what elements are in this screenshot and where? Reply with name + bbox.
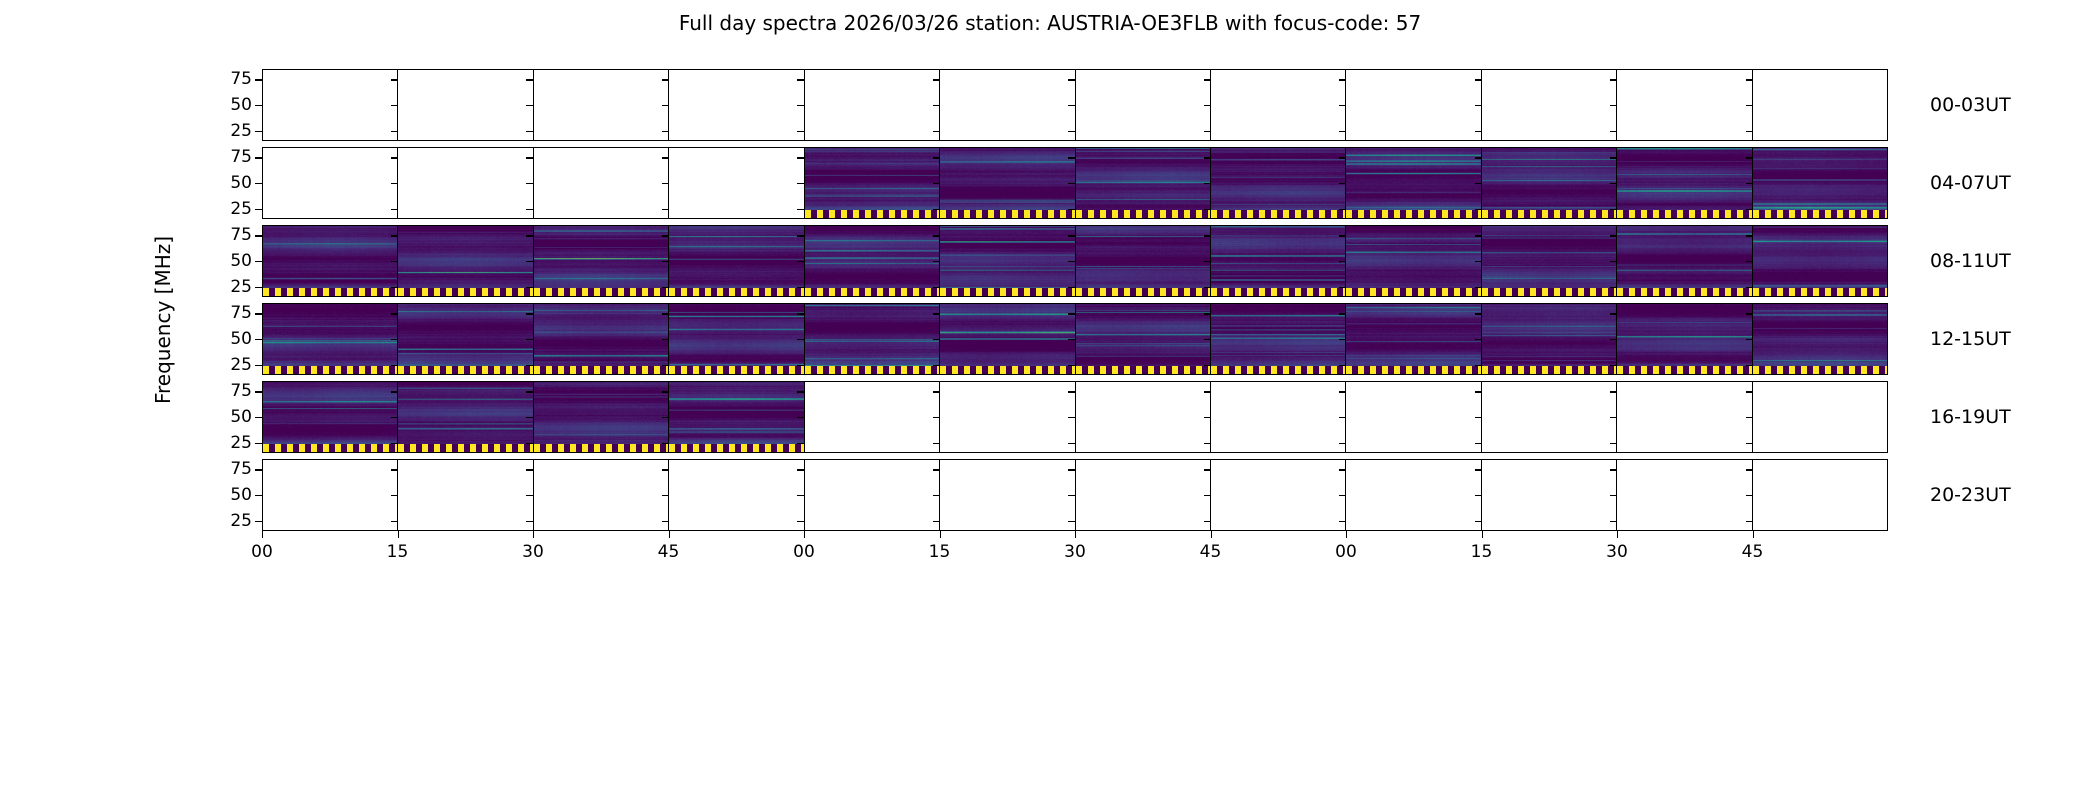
x-tick-mark	[804, 531, 805, 538]
spectrogram-image	[1482, 148, 1616, 218]
y-tick-mark	[526, 313, 533, 314]
y-tick-mark	[1339, 261, 1346, 262]
y-tick-mark	[1068, 521, 1075, 522]
x-tick-label: 45	[1191, 544, 1231, 561]
y-tick-mark	[1068, 235, 1075, 236]
spectrogram-image	[805, 148, 939, 218]
y-tick-mark	[526, 209, 533, 210]
y-tick-label: 25	[206, 201, 252, 218]
y-tick-mark	[1204, 183, 1211, 184]
y-tick-mark	[391, 235, 398, 236]
y-tick-mark	[1746, 443, 1753, 444]
x-tick-label: 45	[649, 544, 689, 561]
y-tick-mark	[1610, 417, 1617, 418]
y-tick-mark	[933, 157, 940, 158]
row-time-label: 04-07UT	[1930, 174, 2011, 193]
y-tick-mark	[255, 495, 262, 496]
y-tick-label: 25	[206, 123, 252, 140]
y-tick-mark	[933, 313, 940, 314]
y-tick-mark	[1475, 105, 1482, 106]
spectrogram-panel[interactable]	[1481, 460, 1616, 530]
calibration-dash-band	[1617, 288, 1751, 296]
spectrogram-panel[interactable]	[1075, 382, 1210, 452]
y-tick-mark	[391, 469, 398, 470]
spectrogram-row[interactable]	[262, 225, 1888, 297]
y-tick-mark	[662, 417, 669, 418]
spectrogram-image	[1211, 304, 1345, 374]
calibration-dash-band	[669, 366, 803, 374]
y-tick-label: 50	[206, 253, 252, 270]
y-tick-label: 75	[206, 227, 252, 244]
x-tick-label: 45	[1733, 544, 1773, 561]
spectrogram-panel[interactable]	[1210, 148, 1345, 218]
y-tick-mark	[1204, 79, 1211, 80]
spectrogram-image	[1211, 226, 1345, 296]
spectrogram-image	[1076, 148, 1210, 218]
spectrogram-panel[interactable]	[804, 460, 939, 530]
spectrogram-panel[interactable]	[1210, 382, 1345, 452]
row-time-label: 20-23UT	[1930, 486, 2011, 505]
calibration-dash-band	[1617, 366, 1751, 374]
spectrogram-image	[1482, 226, 1616, 296]
y-tick-mark	[526, 235, 533, 236]
spectrogram-panel[interactable]	[1752, 148, 1887, 218]
y-tick-mark	[255, 417, 262, 418]
y-tick-mark	[391, 521, 398, 522]
y-tick-mark	[1475, 365, 1482, 366]
x-tick-mark	[1346, 531, 1347, 538]
spectrogram-panel[interactable]	[397, 148, 532, 218]
spectrogram-image	[940, 148, 1074, 218]
spectrogram-panel[interactable]	[804, 382, 939, 452]
y-tick-mark	[255, 235, 262, 236]
spectrogram-panel[interactable]	[804, 304, 939, 374]
calibration-dash-band	[398, 366, 532, 374]
spectrogram-panel[interactable]	[533, 460, 668, 530]
y-tick-mark	[797, 521, 804, 522]
spectrogram-panel[interactable]	[1481, 70, 1616, 140]
y-tick-mark	[1746, 209, 1753, 210]
y-tick-mark	[662, 157, 669, 158]
spectrogram-panel[interactable]	[1345, 148, 1480, 218]
y-tick-mark	[1068, 287, 1075, 288]
y-tick-mark	[1475, 131, 1482, 132]
spectrogram-panel[interactable]	[668, 304, 803, 374]
y-tick-mark	[526, 183, 533, 184]
y-tick-mark	[526, 339, 533, 340]
calibration-dash-band	[398, 288, 532, 296]
spectrogram-panel[interactable]	[939, 304, 1074, 374]
y-tick-mark	[1610, 339, 1617, 340]
y-tick-mark	[255, 443, 262, 444]
y-tick-mark	[797, 105, 804, 106]
spectrogram-panel[interactable]	[1481, 382, 1616, 452]
x-tick-label: 00	[1326, 544, 1366, 561]
y-tick-mark	[1204, 417, 1211, 418]
y-tick-mark	[526, 521, 533, 522]
y-tick-mark	[1746, 183, 1753, 184]
spectrogram-panel[interactable]	[1752, 226, 1887, 296]
y-tick-mark	[1068, 209, 1075, 210]
spectrogram-panel[interactable]	[1752, 382, 1887, 452]
y-tick-mark	[1339, 339, 1346, 340]
spectrogram-image	[1346, 226, 1480, 296]
y-tick-label: 75	[206, 305, 252, 322]
y-tick-mark	[255, 261, 262, 262]
spectrogram-row[interactable]	[262, 303, 1888, 375]
y-tick-mark	[1746, 313, 1753, 314]
spectrogram-panel[interactable]	[263, 226, 397, 296]
spectrogram-image	[534, 304, 668, 374]
spectrogram-panel[interactable]	[397, 382, 532, 452]
y-tick-label: 50	[206, 331, 252, 348]
x-tick-label: 30	[1597, 544, 1637, 561]
y-tick-mark	[1339, 157, 1346, 158]
y-tick-mark	[933, 469, 940, 470]
x-tick-label: 00	[242, 544, 282, 561]
spectrogram-image	[398, 382, 532, 452]
y-tick-mark	[662, 235, 669, 236]
spectrogram-panel[interactable]	[1752, 460, 1887, 530]
y-tick-mark	[255, 339, 262, 340]
spectrogram-image	[263, 304, 397, 374]
y-tick-mark	[662, 79, 669, 80]
y-tick-mark	[1746, 79, 1753, 80]
y-tick-mark	[255, 469, 262, 470]
y-tick-mark	[1339, 495, 1346, 496]
spectrogram-panel[interactable]	[1752, 70, 1887, 140]
spectrogram-image	[534, 382, 668, 452]
spectrogram-panel[interactable]	[397, 460, 532, 530]
y-tick-mark	[1746, 521, 1753, 522]
calibration-dash-band	[1346, 366, 1480, 374]
y-tick-mark	[1339, 79, 1346, 80]
y-tick-mark	[933, 521, 940, 522]
spectrogram-panel[interactable]	[939, 460, 1074, 530]
y-tick-mark	[1610, 521, 1617, 522]
spectrogram-image	[398, 304, 532, 374]
y-tick-mark	[933, 261, 940, 262]
y-tick-mark	[1475, 287, 1482, 288]
y-tick-mark	[1339, 131, 1346, 132]
y-tick-mark	[1475, 261, 1482, 262]
spectrogram-panel[interactable]	[263, 304, 397, 374]
spectrogram-panel[interactable]	[533, 382, 668, 452]
spectrogram-panel[interactable]	[939, 70, 1074, 140]
spectrogram-image	[1617, 148, 1751, 218]
spectrogram-panel[interactable]	[397, 70, 532, 140]
spectrogram-image	[1211, 148, 1345, 218]
calibration-dash-band	[1211, 210, 1345, 218]
y-tick-mark	[1068, 495, 1075, 496]
spectrogram-panel[interactable]	[263, 148, 397, 218]
y-tick-mark	[1204, 365, 1211, 366]
y-tick-mark	[1610, 287, 1617, 288]
y-tick-mark	[797, 495, 804, 496]
spectrogram-panel[interactable]	[804, 148, 939, 218]
spectrogram-panel[interactable]	[804, 70, 939, 140]
y-tick-mark	[391, 261, 398, 262]
y-tick-mark	[1339, 287, 1346, 288]
spectrogram-image	[398, 226, 532, 296]
y-tick-mark	[1068, 365, 1075, 366]
calibration-dash-band	[1617, 210, 1751, 218]
spectrogram-row[interactable]	[262, 459, 1888, 531]
y-tick-mark	[1610, 209, 1617, 210]
y-tick-mark	[1339, 209, 1346, 210]
y-tick-mark	[1068, 261, 1075, 262]
y-tick-mark	[797, 365, 804, 366]
spectrogram-panel[interactable]	[1481, 148, 1616, 218]
y-tick-mark	[662, 521, 669, 522]
spectrogram-panel[interactable]	[1616, 460, 1751, 530]
spectrogram-image	[263, 226, 397, 296]
spectrogram-panel[interactable]	[1616, 304, 1751, 374]
spectrogram-panel[interactable]	[1345, 70, 1480, 140]
spectrogram-image	[1617, 226, 1751, 296]
spectrogram-image	[805, 226, 939, 296]
y-tick-mark	[662, 365, 669, 366]
spectrogram-panel[interactable]	[1616, 70, 1751, 140]
y-tick-mark	[1746, 235, 1753, 236]
calibration-dash-band	[1482, 366, 1616, 374]
spectrogram-image	[669, 304, 803, 374]
row-time-label: 08-11UT	[1930, 252, 2011, 271]
y-tick-mark	[797, 157, 804, 158]
spectrogram-panel[interactable]	[1075, 304, 1210, 374]
y-tick-mark	[933, 391, 940, 392]
y-tick-mark	[1068, 417, 1075, 418]
y-tick-mark	[526, 287, 533, 288]
y-tick-mark	[1746, 469, 1753, 470]
y-tick-mark	[391, 365, 398, 366]
spectrogram-panel[interactable]	[533, 226, 668, 296]
y-tick-mark	[1475, 391, 1482, 392]
y-tick-mark	[933, 339, 940, 340]
y-tick-mark	[526, 417, 533, 418]
spectrogram-panel[interactable]	[1075, 70, 1210, 140]
spectrogram-panel[interactable]	[533, 70, 668, 140]
page-title: Full day spectra 2026/03/26 station: AUS…	[0, 11, 2100, 35]
spectrogram-panel[interactable]	[263, 382, 397, 452]
y-tick-mark	[255, 131, 262, 132]
y-tick-mark	[391, 105, 398, 106]
spectrogram-panel[interactable]	[1616, 148, 1751, 218]
y-tick-mark	[391, 443, 398, 444]
y-tick-mark	[662, 131, 669, 132]
spectrogram-panel[interactable]	[1210, 70, 1345, 140]
y-tick-mark	[1068, 391, 1075, 392]
y-tick-mark	[391, 157, 398, 158]
y-tick-mark	[1204, 443, 1211, 444]
spectrogram-image	[940, 226, 1074, 296]
panel-group	[263, 70, 1887, 140]
spectrogram-row[interactable]	[262, 69, 1888, 141]
calibration-dash-band	[1753, 288, 1887, 296]
x-tick-mark	[1753, 531, 1754, 538]
calibration-dash-band	[805, 366, 939, 374]
spectrogram-panel[interactable]	[1345, 460, 1480, 530]
spectrogram-panel[interactable]	[1210, 460, 1345, 530]
y-tick-mark	[1204, 209, 1211, 210]
y-tick-mark	[1610, 105, 1617, 106]
y-tick-mark	[1475, 235, 1482, 236]
spectrogram-panel[interactable]	[263, 70, 397, 140]
x-tick-mark	[669, 531, 670, 538]
spectrogram-panel[interactable]	[533, 148, 668, 218]
x-tick-mark	[1482, 531, 1483, 538]
spectrogram-panel[interactable]	[397, 226, 532, 296]
spectrogram-image	[805, 304, 939, 374]
y-tick-mark	[1610, 235, 1617, 236]
spectrogram-panel[interactable]	[939, 382, 1074, 452]
y-tick-mark	[662, 443, 669, 444]
y-tick-mark	[1068, 183, 1075, 184]
spectrogram-panel[interactable]	[668, 148, 803, 218]
y-tick-mark	[933, 105, 940, 106]
y-tick-mark	[933, 235, 940, 236]
y-tick-mark	[797, 79, 804, 80]
spectrogram-image	[1753, 226, 1887, 296]
spectrogram-panel[interactable]	[1075, 226, 1210, 296]
spectrogram-panel[interactable]	[1481, 226, 1616, 296]
y-tick-mark	[526, 365, 533, 366]
calibration-dash-band	[940, 210, 1074, 218]
y-tick-mark	[1204, 313, 1211, 314]
spectrogram-panel[interactable]	[1075, 148, 1210, 218]
y-tick-label: 75	[206, 383, 252, 400]
y-tick-mark	[1068, 105, 1075, 106]
x-tick-mark	[1617, 531, 1618, 538]
spectrogram-image	[1753, 304, 1887, 374]
calibration-dash-band	[263, 288, 397, 296]
y-tick-mark	[662, 339, 669, 340]
spectrogram-panel[interactable]	[668, 460, 803, 530]
spectrogram-row[interactable]	[262, 147, 1888, 219]
spectrogram-panel[interactable]	[1616, 226, 1751, 296]
y-tick-label: 25	[206, 279, 252, 296]
spectrogram-panel[interactable]	[668, 226, 803, 296]
y-tick-mark	[391, 495, 398, 496]
y-tick-mark	[1475, 339, 1482, 340]
y-tick-mark	[797, 235, 804, 236]
spectrogram-panel[interactable]	[939, 148, 1074, 218]
spectrogram-image	[1346, 148, 1480, 218]
spectrogram-panel[interactable]	[804, 226, 939, 296]
y-tick-label: 75	[206, 461, 252, 478]
y-tick-mark	[1475, 183, 1482, 184]
y-tick-mark	[662, 287, 669, 288]
y-tick-mark	[391, 339, 398, 340]
y-tick-mark	[662, 261, 669, 262]
y-tick-mark	[1204, 469, 1211, 470]
y-tick-mark	[1339, 391, 1346, 392]
spectrogram-image	[1076, 304, 1210, 374]
spectrogram-panel[interactable]	[1210, 226, 1345, 296]
y-tick-mark	[1746, 261, 1753, 262]
y-tick-mark	[391, 209, 398, 210]
y-tick-mark	[1610, 79, 1617, 80]
spectrogram-panel[interactable]	[1345, 382, 1480, 452]
y-tick-mark	[1610, 183, 1617, 184]
y-tick-mark	[797, 339, 804, 340]
spectrogram-panel[interactable]	[533, 304, 668, 374]
spectrogram-panel[interactable]	[1752, 304, 1887, 374]
calibration-dash-band	[805, 288, 939, 296]
spectrogram-panel[interactable]	[1075, 460, 1210, 530]
spectrogram-panel[interactable]	[1345, 304, 1480, 374]
spectrogram-image	[1617, 304, 1751, 374]
y-tick-label: 50	[206, 409, 252, 426]
y-tick-mark	[797, 313, 804, 314]
spectrogram-row[interactable]	[262, 381, 1888, 453]
y-tick-mark	[933, 79, 940, 80]
y-tick-mark	[933, 183, 940, 184]
y-tick-mark	[255, 105, 262, 106]
row-time-label: 00-03UT	[1930, 96, 2011, 115]
y-tick-mark	[797, 183, 804, 184]
spectrogram-panel[interactable]	[668, 382, 803, 452]
y-tick-mark	[1475, 313, 1482, 314]
spectrogram-panel[interactable]	[397, 304, 532, 374]
y-tick-mark	[1610, 443, 1617, 444]
y-tick-mark	[526, 391, 533, 392]
spectrogram-panel[interactable]	[1481, 304, 1616, 374]
y-tick-mark	[1068, 469, 1075, 470]
y-tick-mark	[1204, 287, 1211, 288]
spectrogram-panel[interactable]	[1345, 226, 1480, 296]
spectrogram-panel[interactable]	[1616, 382, 1751, 452]
calibration-dash-band	[669, 288, 803, 296]
y-tick-mark	[933, 417, 940, 418]
calibration-dash-band	[1076, 288, 1210, 296]
y-tick-mark	[1746, 157, 1753, 158]
calibration-dash-band	[669, 444, 803, 452]
spectrogram-panel[interactable]	[939, 226, 1074, 296]
x-tick-label: 15	[920, 544, 960, 561]
y-tick-mark	[1610, 469, 1617, 470]
y-tick-label: 25	[206, 357, 252, 374]
calibration-dash-band	[1346, 288, 1480, 296]
row-time-label: 12-15UT	[1930, 330, 2011, 349]
panel-group	[263, 460, 1887, 530]
y-tick-mark	[1746, 417, 1753, 418]
y-tick-mark	[1475, 209, 1482, 210]
x-tick-mark	[1211, 531, 1212, 538]
spectrogram-image	[1482, 304, 1616, 374]
y-tick-mark	[933, 495, 940, 496]
y-tick-mark	[255, 313, 262, 314]
y-tick-mark	[1204, 157, 1211, 158]
calibration-dash-band	[940, 366, 1074, 374]
spectrogram-panel[interactable]	[263, 460, 397, 530]
y-tick-mark	[255, 157, 262, 158]
y-tick-mark	[1610, 313, 1617, 314]
calibration-dash-band	[534, 288, 668, 296]
y-tick-mark	[1475, 521, 1482, 522]
spectrogram-panel[interactable]	[668, 70, 803, 140]
y-tick-mark	[1068, 339, 1075, 340]
y-tick-mark	[797, 131, 804, 132]
y-tick-mark	[1068, 79, 1075, 80]
y-tick-mark	[1339, 313, 1346, 314]
y-tick-mark	[662, 391, 669, 392]
x-tick-mark	[940, 531, 941, 538]
spectrogram-panel[interactable]	[1210, 304, 1345, 374]
spectrogram-image	[1076, 226, 1210, 296]
calibration-dash-band	[940, 288, 1074, 296]
y-tick-mark	[662, 183, 669, 184]
